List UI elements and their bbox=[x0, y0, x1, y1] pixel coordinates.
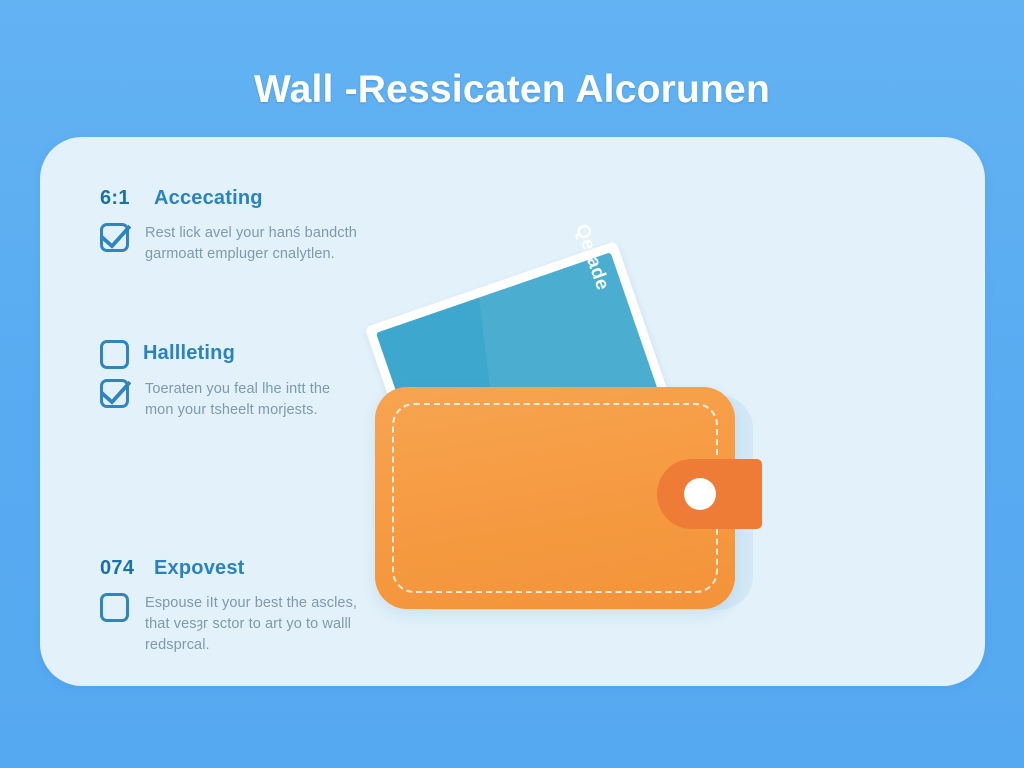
list-item-text: Toeraten you feal lhe intt the mon your … bbox=[145, 379, 360, 421]
list-item-number: 6:1 bbox=[100, 187, 140, 210]
wallet-body bbox=[375, 387, 735, 609]
app-root: Wall -Ressicaten Alcorunen 6:1 Accecatin… bbox=[0, 0, 1024, 768]
wallet-clasp bbox=[657, 459, 762, 529]
page-title: Wall -Ressicaten Alcorunen bbox=[0, 68, 1024, 112]
wallet-illustration: Qerade bbox=[330, 217, 770, 637]
checkbox-unchecked-icon[interactable] bbox=[100, 593, 129, 622]
list-item-number: 074 bbox=[100, 557, 140, 580]
clasp-button-icon bbox=[684, 478, 716, 510]
list-item-header: 6:1 Accecating bbox=[100, 187, 430, 213]
checkbox-checked-icon[interactable] bbox=[100, 223, 129, 252]
list-item-title: Expovest bbox=[154, 557, 245, 580]
list-item-title: Accecating bbox=[154, 187, 263, 210]
checkbox-unchecked-icon[interactable] bbox=[100, 340, 129, 369]
list-item-text: Espouse iIt your best the ascles, that v… bbox=[145, 593, 360, 656]
content-panel: 6:1 Accecating Rest lick avel your hanś … bbox=[40, 137, 985, 686]
checkbox-checked-icon[interactable] bbox=[100, 379, 129, 408]
list-item-title: Hallleting bbox=[143, 342, 235, 365]
list-item-text: Rest lick avel your hanś bandcth garmoat… bbox=[145, 223, 360, 265]
